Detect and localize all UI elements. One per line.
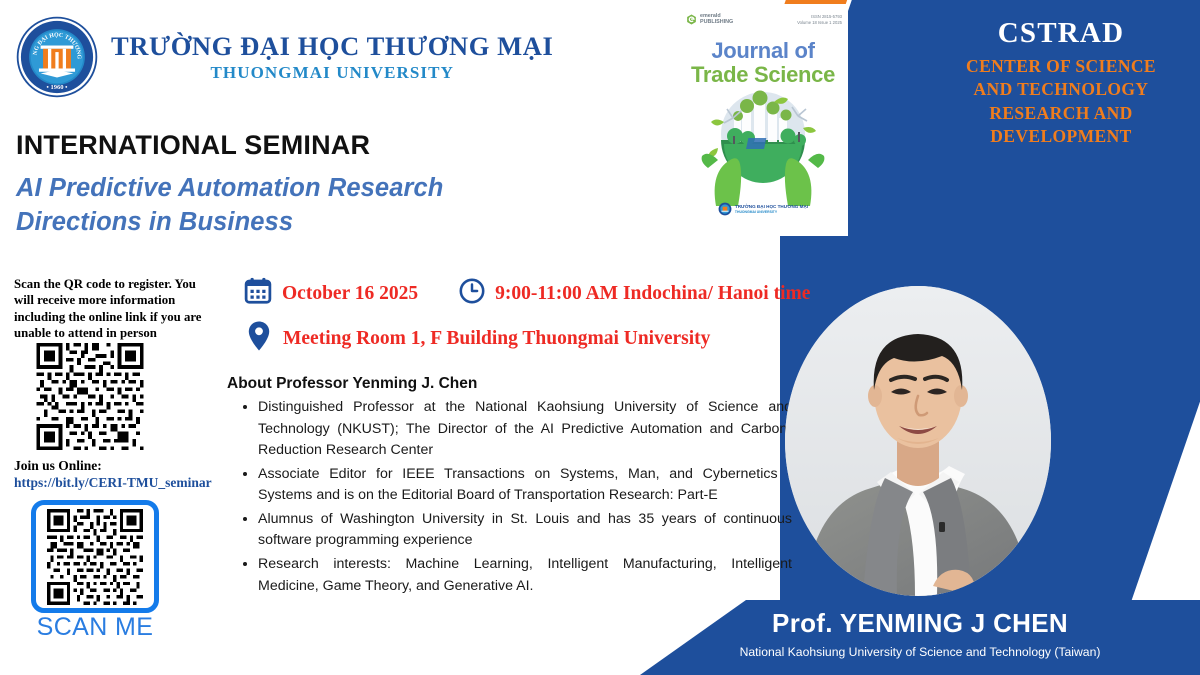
journal-title-line1: Journal of (678, 38, 848, 64)
journal-footer-sub: THUONGMAI UNIVERSITY (735, 210, 808, 214)
emerald-sub: PUBLISHING (700, 20, 733, 26)
journal-issn-block: ISSN 2815-5793 Volume 18 Issue 1 2025 (797, 14, 842, 27)
cstrad-line-1: CENTER OF SCIENCE (928, 55, 1194, 78)
emerald-publishing-logo: emerald PUBLISHING (686, 14, 733, 26)
event-location: Meeting Room 1, F Building Thuongmai Uni… (283, 328, 710, 350)
join-online-label: Join us Online: (14, 458, 102, 474)
join-online-link[interactable]: https://bit.ly/CERI-TMU_seminar (14, 475, 212, 491)
registration-qr-code[interactable] (36, 343, 144, 450)
event-date: October 16 2025 (282, 283, 418, 305)
list-item: Research interests: Machine Learning, In… (258, 554, 792, 597)
journal-footer-name: TRƯỜNG ĐẠI HỌC THƯƠNG MẠI (735, 204, 808, 210)
clock-icon (458, 277, 486, 310)
speaker-affiliation: National Kaohsiung University of Science… (640, 645, 1200, 659)
online-qr-code-frame[interactable] (31, 500, 159, 613)
event-location-row: Meeting Room 1, F Building Thuongmai Uni… (247, 320, 710, 357)
cstrad-fullname: CENTER OF SCIENCE AND TECHNOLOGY RESEARC… (928, 55, 1194, 149)
calendar-icon (243, 276, 273, 311)
list-item: Alumnus of Washington University in St. … (258, 509, 792, 552)
cstrad-acronym: CSTRAD (928, 18, 1194, 50)
event-time: 9:00-11:00 AM Indochina/ Hanoi time (495, 283, 810, 305)
speaker-photo (785, 286, 1051, 596)
thuongmai-university-seal-icon: TRƯỜNG ĐẠI HỌC THƯƠNG MẠI • 1960 • (16, 16, 98, 98)
university-name-vi: TRƯỜNG ĐẠI HỌC THƯƠNG MẠI (111, 33, 553, 61)
page-title: AI Predictive Automation Research Direct… (16, 172, 576, 239)
university-header: TRƯỜNG ĐẠI HỌC THƯƠNG MẠI • 1960 • TRƯỜN… (16, 16, 553, 98)
list-item: Distinguished Professor at the National … (258, 397, 792, 462)
emerald-logo-text: emerald PUBLISHING (700, 14, 733, 26)
journal-title-line2: Trade Science (678, 62, 848, 88)
register-instructions: Scan the QR code to register. You will r… (14, 276, 214, 342)
about-bullet-list: Distinguished Professor at the National … (236, 397, 792, 599)
scan-me-label: SCAN ME (31, 613, 159, 642)
seminar-poster: CSTRAD CENTER OF SCIENCE AND TECHNOLOGY … (0, 0, 1200, 675)
about-heading: About Professor Yenming J. Chen (227, 375, 477, 393)
map-pin-icon (247, 320, 271, 357)
university-name-en: THUONGMAI UNIVERSITY (111, 63, 553, 83)
cstrad-line-2: AND TECHNOLOGY (928, 78, 1194, 101)
speaker-name: Prof. YENMING J CHEN (640, 608, 1200, 639)
cstrad-line-4: DEVELOPMENT (928, 125, 1194, 148)
journal-cover-artwork-icon (678, 88, 848, 206)
svg-text:• 1960 •: • 1960 • (47, 84, 69, 91)
journal-cover: emerald PUBLISHING ISSN 2815-5793 Volume… (678, 4, 848, 236)
cstrad-line-3: RESEARCH AND (928, 102, 1194, 125)
online-qr-code[interactable] (46, 509, 144, 605)
event-datetime-row: October 16 2025 9:00-11:00 AM Indochina/… (243, 276, 810, 311)
journal-footer-text: TRƯỜNG ĐẠI HỌC THƯƠNG MẠI THUONGMAI UNIV… (735, 204, 808, 214)
journal-volume: Volume 18 Issue 1 2025 (797, 20, 842, 26)
seminar-kicker: INTERNATIONAL SEMINAR (16, 130, 370, 161)
university-wordmark: TRƯỜNG ĐẠI HỌC THƯƠNG MẠI THUONGMAI UNIV… (111, 31, 553, 84)
cstrad-block: CSTRAD CENTER OF SCIENCE AND TECHNOLOGY … (928, 18, 1194, 149)
list-item: Associate Editor for IEEE Transactions o… (258, 464, 792, 507)
journal-footer-logo: TRƯỜNG ĐẠI HỌC THƯƠNG MẠI THUONGMAI UNIV… (678, 202, 848, 216)
